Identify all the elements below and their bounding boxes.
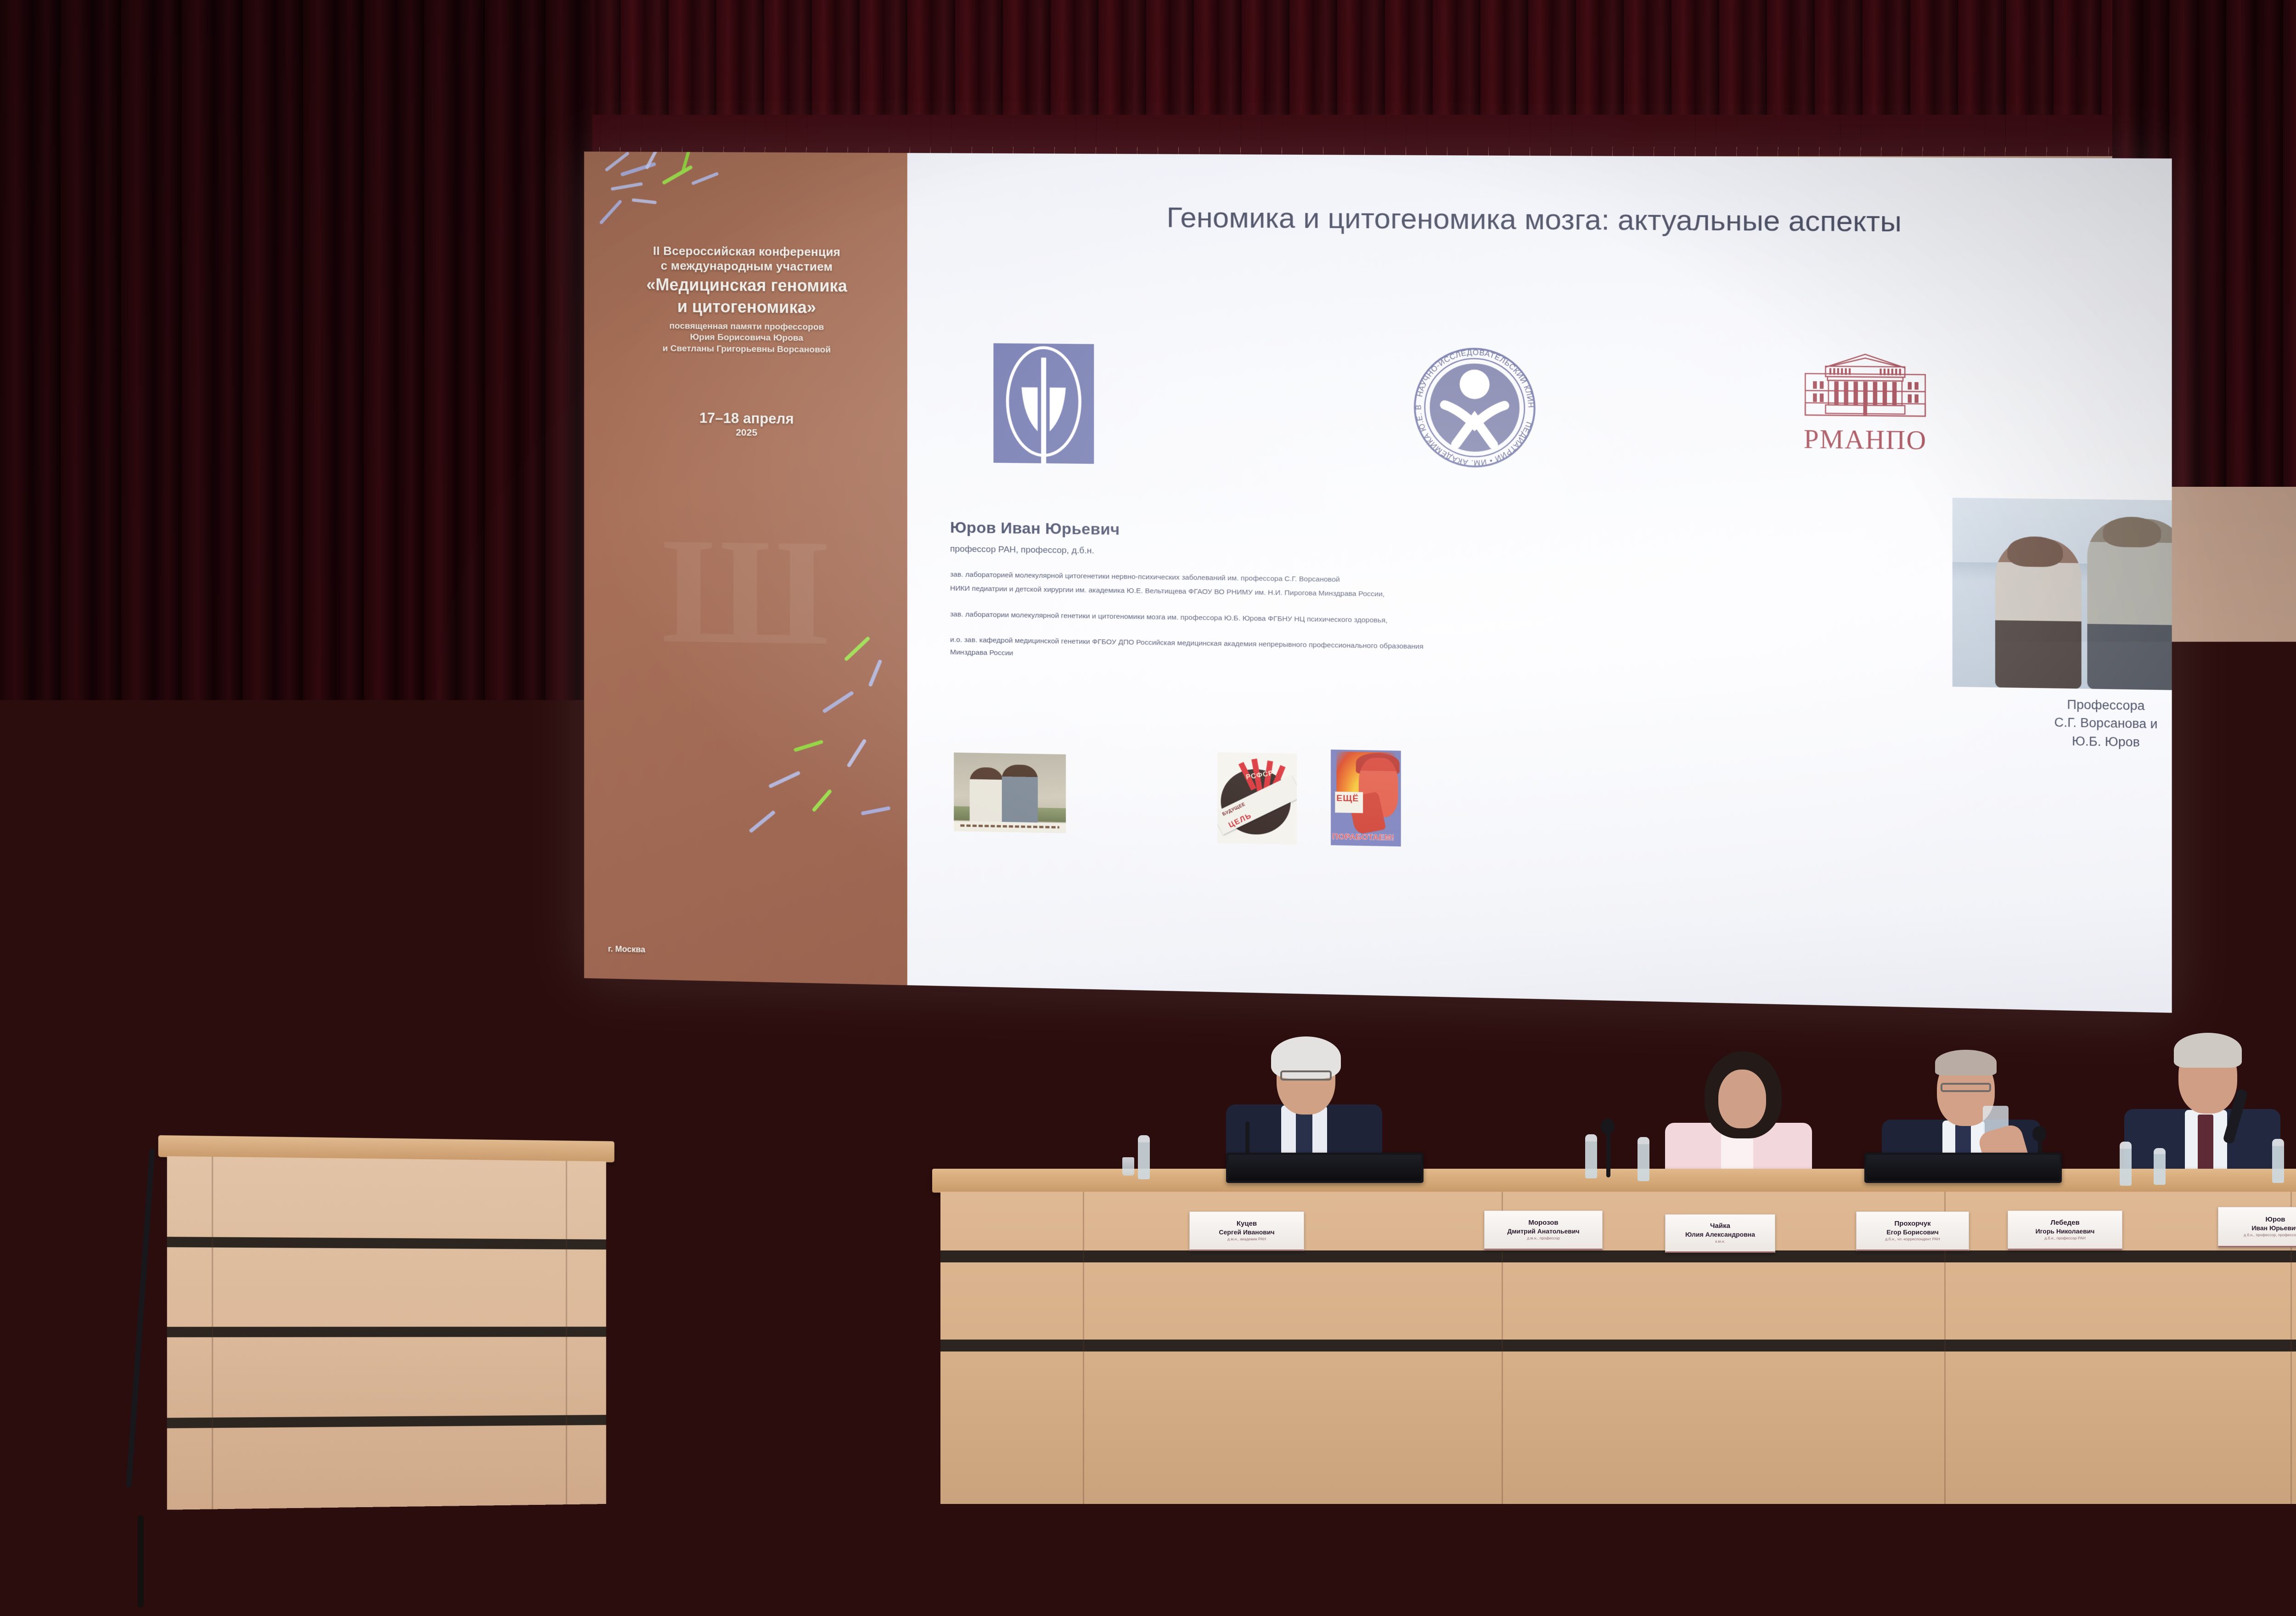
veltischev-institute-logo <box>993 343 1094 464</box>
table-microphone <box>2032 1126 2046 1142</box>
nameplate-kutsev: Куцев Сергей Иванович д.м.н., академик Р… <box>1189 1211 1304 1251</box>
audience-seat <box>1456 1543 1587 1616</box>
audience-seat <box>0 1543 117 1616</box>
photo-caption-line3: Ю.Б. Юров <box>1953 730 2172 753</box>
professors-photo <box>1953 498 2172 692</box>
soviet-poster-friends <box>954 753 1066 833</box>
poster-line1: II Всероссийская конференция <box>597 243 897 260</box>
nameplate-yurov: Юров Иван Юрьевич д.б.н., профессор, про… <box>2218 1207 2296 1247</box>
rmanpo-logo: РМАНПО <box>1785 352 1945 473</box>
audience-seat <box>1993 1543 2124 1616</box>
nameplate-role: к.м.н. <box>1715 1239 1725 1244</box>
audience-seat <box>675 1543 806 1616</box>
audience-seat <box>328 1543 459 1616</box>
nameplate-role: д.м.н., профессор <box>1527 1236 1559 1240</box>
audience-seat <box>505 1543 636 1616</box>
nameplate-lastname: Лебедев <box>2050 1219 2079 1227</box>
nameplate-firstname: Дмитрий Анатольевич <box>1507 1227 1579 1235</box>
slide-speaker-block: Юров Иван Юрьевич профессор РАН, професс… <box>950 519 1755 670</box>
nameplate-lastname: Чайка <box>1710 1222 1730 1230</box>
nameplate-lastname: Юров <box>2265 1216 2285 1224</box>
audience-seat <box>1277 1543 1407 1616</box>
soviet-poster-eshe-porabotaem: ЕЩЁ ПОРАБОТАЕМ! <box>1331 749 1401 846</box>
speaker-podium <box>167 1135 606 1509</box>
podium-body <box>167 1156 606 1510</box>
soviet-poster-rsfsr: РСФСР БУДУЩЕЕ ЦЕЛЬ <box>1217 752 1297 845</box>
eshe-word: ЕЩЁ <box>1336 794 1359 804</box>
water-glass <box>1122 1157 1134 1176</box>
audience-seat <box>152 1543 282 1616</box>
speaker-name: Юров Иван Юрьевич <box>950 519 1755 547</box>
slide-title: Геномика и цитогеномика мозга: актуальны… <box>926 198 2152 242</box>
nameplate-lastname: Прохорчук <box>1894 1220 1930 1228</box>
audience-seating <box>0 1515 2296 1616</box>
table-microphone <box>1601 1119 1615 1134</box>
speaker-role: профессор РАН, профессор, д.б.н. <box>950 544 1755 565</box>
nameplate-firstname: Юлия Александровна <box>1685 1231 1755 1238</box>
flower-bouquet <box>1745 1116 1814 1176</box>
water-bottle <box>1638 1137 1649 1181</box>
nameplate-firstname: Игорь Николаевич <box>2036 1227 2095 1235</box>
audience-seat <box>923 1543 1054 1616</box>
audience-seat <box>1814 1543 1945 1616</box>
nameplate-prokhorchuk: Прохорчук Егор Борисович д.б.н., чл.-кор… <box>1856 1211 1969 1251</box>
conference-hall-scene: Ш II Всероссийская конференция с междуна… <box>0 0 2296 1616</box>
slide-conference-poster-panel: Ш II Всероссийская конференция с междуна… <box>584 152 907 985</box>
nameplate-morozov: Морозов Дмитрий Анатольевич д.м.н., проф… <box>1484 1211 1603 1250</box>
nameplate-role: д.б.н., чл.-корреспондент РАН <box>1885 1237 1940 1241</box>
water-bottle <box>1138 1135 1150 1179</box>
poster-dedication-line3: и Светланы Григорьевны Ворсановой <box>597 343 897 356</box>
side-table-papers <box>11 1197 99 1210</box>
slide-content-panel: Геномика и цитогеномика мозга: актуальны… <box>907 153 2172 1013</box>
nameplate-firstname: Егор Борисович <box>1886 1228 1938 1236</box>
nameplate-lastname: Морозов <box>1528 1219 1558 1227</box>
poster-title-line1: «Медицинская геномика <box>597 275 897 297</box>
speaker-affiliation-2: зав. лаборатории молекулярной генетики и… <box>950 609 1755 631</box>
water-bottle <box>2272 1139 2284 1183</box>
niki-pediatrics-logo: НАУЧНО-ИССЛЕДОВАТЕЛЬСКИЙ КЛИНИЧЕСКИЙ ИНС… <box>1412 346 1537 470</box>
panel-monitor <box>1864 1153 2062 1183</box>
panelist-glasses <box>1280 1070 1332 1081</box>
audience-seat <box>2172 1543 2296 1616</box>
stage-front-edge <box>0 1465 2296 1492</box>
slide-logo-row: НАУЧНО-ИССЛЕДОВАТЕЛЬСКИЙ КЛИНИЧЕСКИЙ ИНС… <box>907 338 2172 481</box>
nameplate-role: д.м.н., академик РАН <box>1227 1237 1266 1241</box>
water-bottle <box>2154 1148 2166 1185</box>
audience-member-hair <box>808 1529 877 1584</box>
nameplate-lebedev: Лебедев Игорь Николаевич д.б.н., професс… <box>2008 1211 2122 1250</box>
nameplate-firstname: Иван Юрьевич <box>2251 1224 2296 1232</box>
audience-seat <box>1097 1543 1228 1616</box>
poster-line2: с международным участием <box>597 258 897 275</box>
panel-table-top <box>932 1169 2296 1193</box>
poster-city: г. Москва <box>608 944 645 955</box>
professors-photo-caption: Профессора С.Г. Ворсанова и Ю.Б. Юров <box>1953 694 2172 753</box>
stage-curtain-left <box>0 0 592 941</box>
presenter-at-podium <box>276 923 478 1153</box>
water-bottle <box>1832 1126 1844 1177</box>
side-table <box>0 1205 138 1255</box>
poster-text-block: II Всероссийская конференция с междунаро… <box>597 243 897 440</box>
nameplate-lastname: Куцев <box>1237 1220 1257 1228</box>
poster-dates: 17–18 апреля <box>597 409 897 428</box>
panel-monitor <box>1226 1153 1424 1183</box>
water-bottle <box>1585 1134 1597 1178</box>
nameplate-role: д.б.н., профессор РАН <box>2044 1236 2085 1240</box>
projection-screen: Ш II Всероссийская конференция с междуна… <box>584 152 2172 1013</box>
poster-watermark: Ш <box>662 515 829 669</box>
presenter-badge <box>366 1064 401 1091</box>
rmanpo-wordmark: РМАНПО <box>1804 426 1927 454</box>
porabotaem-word: ПОРАБОТАЕМ! <box>1332 832 1400 843</box>
nameplate-role: д.б.н., профессор, профессор РАН <box>2244 1233 2296 1237</box>
panelist-glasses <box>1941 1083 1991 1092</box>
poster-title-line2: и цитогеномика» <box>597 296 897 318</box>
nameplate-chayka: Чайка Юлия Александровна к.м.н. <box>1665 1214 1775 1253</box>
water-bottle <box>2120 1142 2132 1186</box>
nameplate-firstname: Сергей Иванович <box>1219 1228 1274 1236</box>
audience-seat <box>1635 1543 1766 1616</box>
